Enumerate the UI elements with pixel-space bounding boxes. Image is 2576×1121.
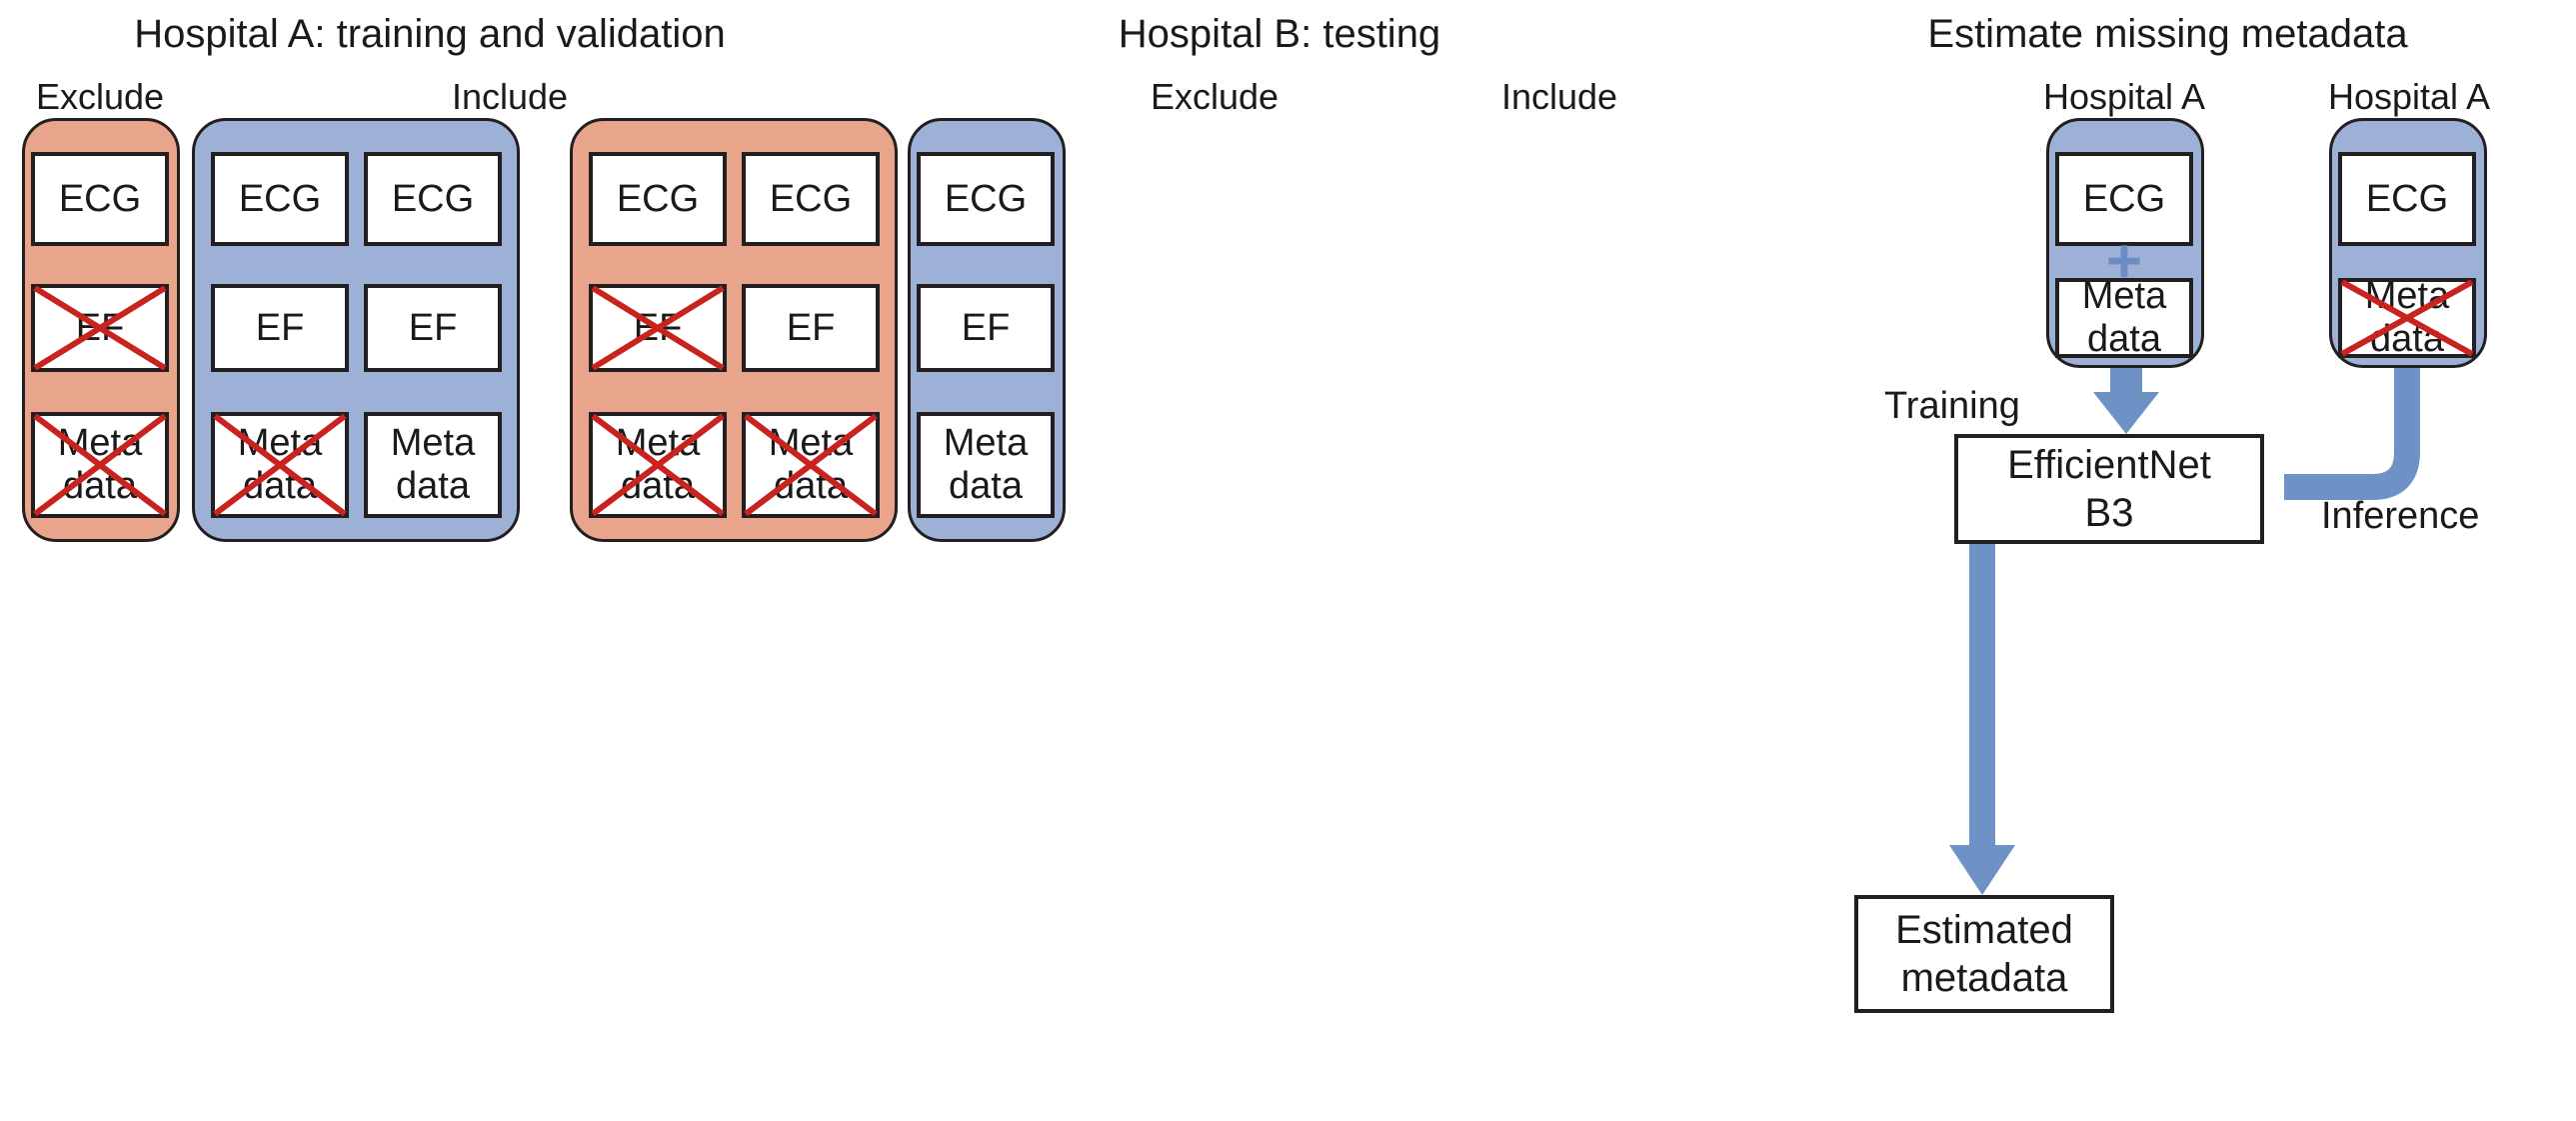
cross-out-icon — [2342, 282, 2472, 354]
section-title-estimate-missing-metadata: Estimate missing metadata — [1759, 12, 2576, 57]
cell-ef: EF — [364, 284, 502, 372]
inference-arrow-path — [2284, 368, 2407, 487]
section-title-hospital-b-testing: Hospital B: testing — [900, 12, 1659, 57]
cell-ecg: ECG — [31, 152, 169, 246]
cell-ecg: ECG — [917, 152, 1055, 246]
cell-ecg: ECG — [589, 152, 727, 246]
figure-canvas: Hospital A: training and validation Excl… — [0, 0, 2576, 1121]
cell-ecg: ECG — [2338, 152, 2476, 246]
cell-label: ECG — [59, 178, 141, 221]
cell-label: ECG — [770, 178, 852, 221]
column-label-include-a: Include — [200, 76, 820, 118]
cell-metadata-excluded: Meta data — [742, 412, 880, 518]
cell-ecg: ECG — [742, 152, 880, 246]
cell-metadata-excluded: Meta data — [31, 412, 169, 518]
column-label-exclude-a: Exclude — [0, 76, 200, 118]
cell-label: Meta data — [391, 422, 475, 507]
cell-ecg: ECG — [364, 152, 502, 246]
cell-label: Meta data — [2082, 275, 2166, 360]
cell-label: ECG — [392, 178, 474, 221]
column-label-estimate-target: Hospital A — [2259, 76, 2559, 118]
cell-label: EF — [409, 307, 458, 350]
cell-label: ECG — [617, 178, 699, 221]
cross-out-icon — [35, 288, 165, 368]
model-box-efficientnet: EfficientNet B3 — [1954, 434, 2264, 544]
cell-label: ECG — [2366, 178, 2448, 221]
cell-label: Meta data — [944, 422, 1028, 507]
cell-label: ECG — [2083, 178, 2165, 221]
cross-out-icon — [593, 416, 723, 514]
cell-metadata-excluded: Meta data — [589, 412, 727, 518]
column-label-estimate-source: Hospital A — [1974, 76, 2274, 118]
cell-ef: EF — [917, 284, 1055, 372]
cell-metadata: Meta data — [364, 412, 502, 518]
training-arrow-icon — [2093, 368, 2159, 434]
output-box-estimated-metadata: Estimated metadata — [1854, 895, 2114, 1013]
cell-metadata-excluded: Meta data — [211, 412, 349, 518]
cell-ef-excluded: EF — [31, 284, 169, 372]
cell-label: ECG — [239, 178, 321, 221]
output-box-label: Estimated metadata — [1895, 906, 2073, 1002]
cell-ecg: ECG — [211, 152, 349, 246]
cross-out-icon — [35, 416, 165, 514]
plus-icon: + — [2055, 241, 2193, 283]
training-label: Training — [1884, 385, 2020, 428]
cross-out-icon — [215, 416, 345, 514]
cell-ef: EF — [742, 284, 880, 372]
cell-label: EF — [962, 307, 1011, 350]
cell-ef-excluded: EF — [589, 284, 727, 372]
cross-out-icon — [593, 288, 723, 368]
cell-metadata: Meta data — [917, 412, 1055, 518]
column-label-exclude-b: Exclude — [1050, 76, 1379, 118]
cell-metadata: Meta data — [2055, 278, 2193, 358]
inference-label: Inference — [2321, 495, 2479, 538]
cell-ef: EF — [211, 284, 349, 372]
cell-label: EF — [256, 307, 305, 350]
section-title-hospital-a-training: Hospital A: training and validation — [0, 12, 860, 57]
column-label-include-b: Include — [1439, 76, 1679, 118]
cell-metadata-missing: Meta data — [2338, 278, 2476, 358]
cross-out-icon — [746, 416, 876, 514]
cell-label: EF — [787, 307, 836, 350]
model-box-label: EfficientNet B3 — [2007, 441, 2211, 537]
output-arrow-head — [1949, 845, 2015, 895]
cell-label: ECG — [945, 178, 1027, 221]
